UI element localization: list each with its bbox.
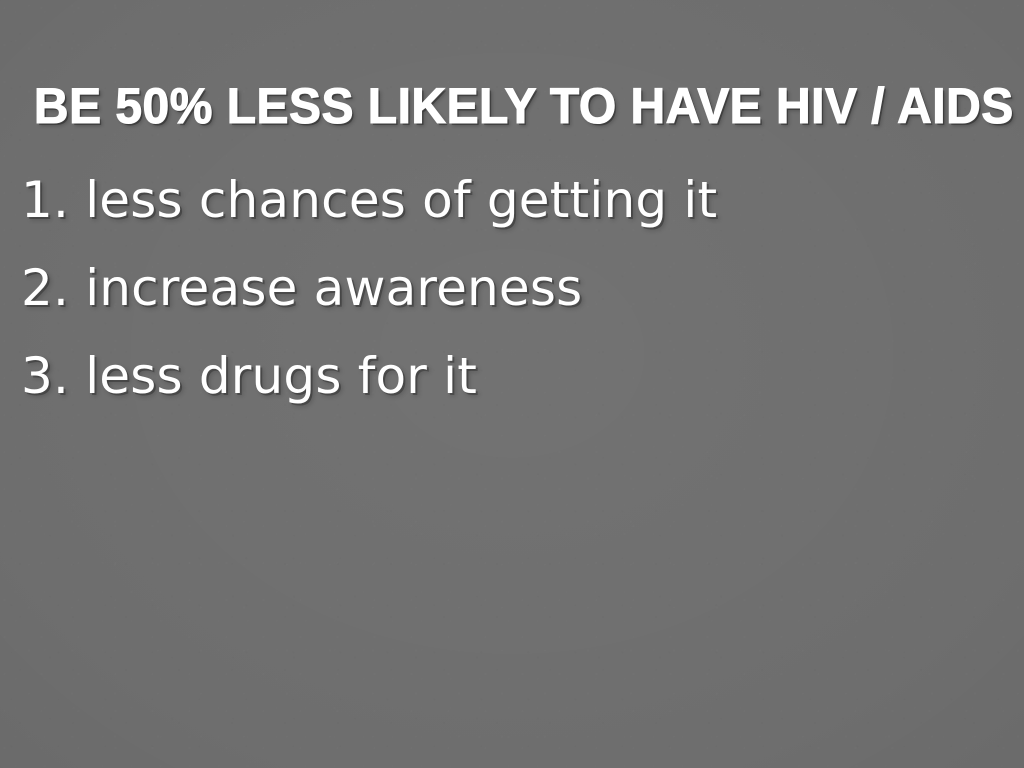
presentation-slide: Be 50% Less Likely to Have HIV / AIDS 1.… — [0, 0, 1024, 768]
list-item: 2. increase awareness — [21, 244, 984, 332]
list-item: 3. less drugs for it — [21, 332, 984, 420]
list-item-number: 1. — [21, 171, 69, 229]
list-item-label: less chances of getting it — [85, 171, 717, 229]
list-item: 1. less chances of getting it — [21, 156, 984, 244]
list-item-number: 3. — [21, 347, 69, 405]
list-item-label: less drugs for it — [85, 347, 477, 405]
numbered-list: 1. less chances of getting it 2. increas… — [21, 156, 984, 420]
list-item-number: 2. — [21, 259, 69, 317]
slide-content: Be 50% Less Likely to Have HIV / AIDS 1.… — [0, 0, 1024, 768]
slide-title: Be 50% Less Likely to Have HIV / AIDS — [20, 78, 1003, 134]
list-item-label: increase awareness — [85, 259, 582, 317]
